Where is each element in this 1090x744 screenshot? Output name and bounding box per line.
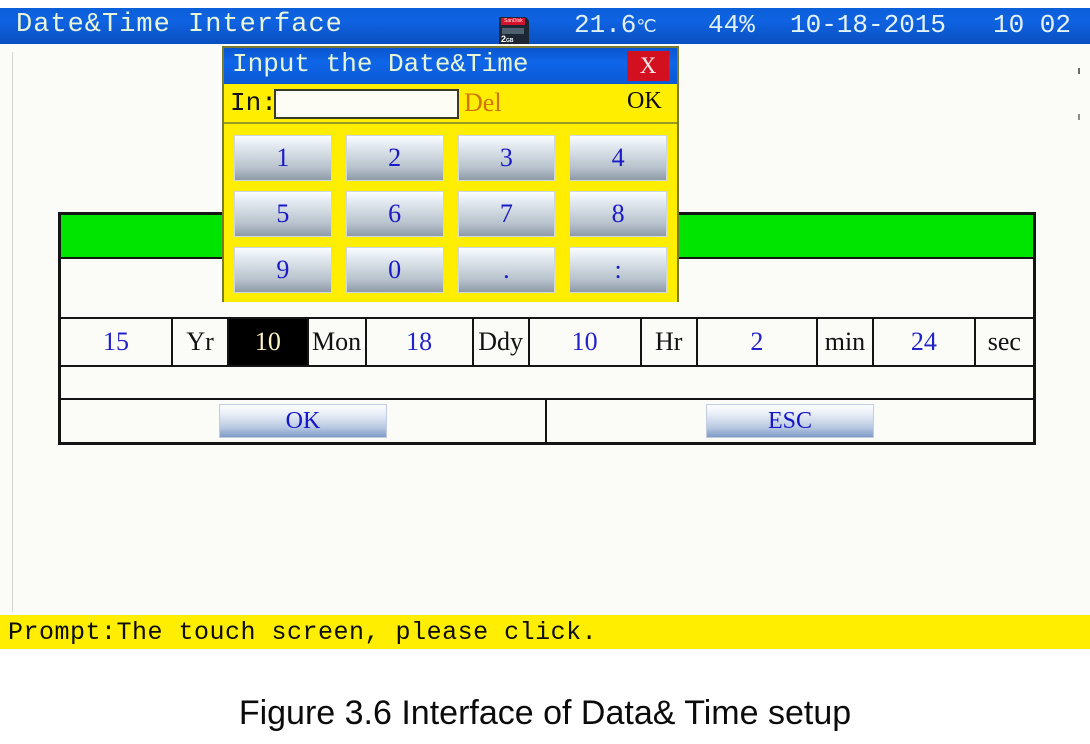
ok-button[interactable]: OK [219, 404, 387, 438]
prompt-bar: Prompt:The touch screen, please click. [0, 615, 1090, 649]
status-date: 10-18-2015 [790, 10, 946, 40]
temperature-readout: 21.6℃ [574, 10, 657, 40]
delete-button[interactable]: Del [464, 88, 502, 118]
datetime-unit-cell[interactable]: Ddy [474, 319, 530, 365]
keypad-key-colon[interactable]: : [569, 247, 667, 293]
sd-capacity-unit: GB [506, 38, 514, 44]
keypad-key-1[interactable]: 1 [234, 135, 332, 181]
keypad-key-4[interactable]: 4 [569, 135, 667, 181]
datetime-cell-group: 15Yr10Mon18Ddy10Hr2min24sec [61, 319, 1033, 365]
action-button-group: OK ESC [61, 400, 1033, 442]
sd-card-capacity: 2GB [501, 34, 514, 44]
ok-button-cell: OK [61, 400, 547, 442]
datetime-unit-cell[interactable]: Yr [173, 319, 229, 365]
temperature-value: 21.6 [574, 10, 636, 40]
datetime-input[interactable] [274, 89, 459, 119]
input-label: In: [230, 88, 277, 118]
prompt-text: Prompt:The touch screen, please click. [0, 618, 597, 647]
keypad-key-0[interactable]: 0 [346, 247, 444, 293]
panel-right-mark-top [1078, 68, 1080, 74]
table-row-actions: OK ESC [61, 400, 1033, 442]
keypad-key-6[interactable]: 6 [346, 191, 444, 237]
sd-card-icon: SanDisk 2GB [499, 17, 529, 44]
page-title: Date&Time Interface [16, 10, 343, 40]
keypad-key-3[interactable]: 3 [458, 135, 556, 181]
sd-card-brand-strip: SanDisk [501, 18, 525, 25]
dialog-ok-button[interactable]: OK [627, 88, 662, 115]
datetime-value-cell[interactable]: 10 [530, 319, 642, 365]
status-bar: Date&Time Interface SanDisk 2GB 21.6℃ 44… [0, 8, 1090, 44]
datetime-value-cell[interactable]: 15 [61, 319, 173, 365]
datetime-unit-cell[interactable]: Mon [309, 319, 367, 365]
esc-button[interactable]: ESC [706, 404, 874, 438]
keypad-key-8[interactable]: 8 [569, 191, 667, 237]
keypad-key-7[interactable]: 7 [458, 191, 556, 237]
figure-caption: Figure 3.6 Interface of Data& Time setup [0, 694, 1090, 733]
screenshot-root: Date&Time Interface SanDisk 2GB 21.6℃ 44… [0, 0, 1090, 744]
temperature-unit: ℃ [636, 18, 656, 38]
status-time: 10 02 [993, 10, 1071, 40]
dialog-title: Input the Date&Time [232, 49, 528, 79]
table-row-blank-lower [61, 367, 1033, 400]
input-datetime-dialog: Input the Date&Time X In: Del OK 1234567… [222, 46, 679, 302]
keypad-key-5[interactable]: 5 [234, 191, 332, 237]
keypad-key-9[interactable]: 9 [234, 247, 332, 293]
dialog-title-bar: Input the Date&Time X [224, 48, 677, 84]
datetime-unit-cell[interactable]: min [818, 319, 874, 365]
humidity-readout: 44% [708, 10, 755, 40]
sd-card-brand-label: SanDisk [504, 18, 523, 25]
panel-right-mark-bottom [1078, 114, 1080, 120]
panel-left-rule [12, 52, 13, 612]
esc-button-cell: ESC [547, 400, 1033, 442]
keypad-key-2[interactable]: 2 [346, 135, 444, 181]
datetime-value-cell[interactable]: 18 [367, 319, 474, 365]
datetime-value-cell[interactable]: 10 [229, 319, 308, 365]
datetime-value-cell[interactable]: 2 [698, 319, 818, 365]
close-icon[interactable]: X [627, 51, 669, 81]
datetime-unit-cell[interactable]: sec [976, 319, 1033, 365]
datetime-unit-cell[interactable]: Hr [642, 319, 698, 365]
table-row-datetime: 15Yr10Mon18Ddy10Hr2min24sec [61, 319, 1033, 367]
numeric-keypad: 1234567890.: [224, 126, 677, 302]
keypad-key-dot[interactable]: . [458, 247, 556, 293]
datetime-value-cell[interactable]: 24 [874, 319, 976, 365]
dialog-input-row: In: Del OK [224, 84, 677, 124]
